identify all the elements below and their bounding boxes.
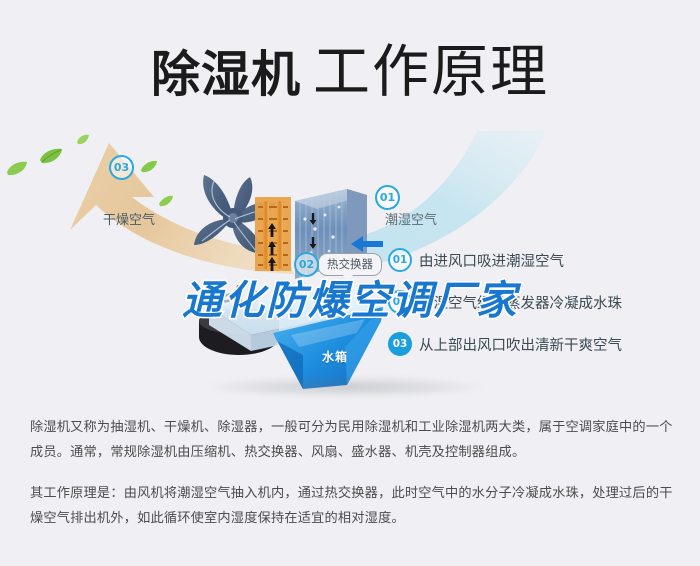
watermark-text: 通化防爆空调厂家	[182, 279, 518, 323]
paragraph-1: 除湿机又称为抽湿机、干燥机、除湿器，一般可分为民用除湿机和工业除湿机两大类，属于…	[30, 414, 675, 464]
legend-text-03: 从上部出风口吹出清新干爽空气	[419, 334, 622, 355]
legend-badge-03: 03	[388, 332, 412, 356]
leaf-icon-5	[158, 195, 174, 213]
leaf-icon-3	[76, 133, 90, 151]
leaf-icon-4	[140, 160, 158, 179]
humid-air-label: 潮湿空气	[385, 209, 437, 228]
ground-shadow	[205, 377, 485, 397]
infographic-page: 除湿机工作原理	[0, 0, 700, 566]
illustration-badge-03: 03	[109, 155, 134, 180]
page-title-part2: 工作原理	[313, 40, 549, 104]
page-title-part1: 除湿机	[151, 48, 301, 102]
body-copy: 除湿机又称为抽湿机、干燥机、除湿器，一般可分为民用除湿机和工业除湿机两大类，属于…	[30, 414, 675, 546]
paragraph-2: 其工作原理是：由风机将潮湿空气抽入机内，通过热交换器，此时空气中的水分子冷凝成水…	[30, 480, 675, 530]
dry-air-label: 干燥空气	[103, 209, 155, 228]
page-title: 除湿机工作原理	[0, 26, 700, 108]
watermark: 通化防爆空调厂家	[0, 268, 700, 326]
water-tank-label: 水箱	[322, 348, 348, 365]
legend-item-03: 03 从上部出风口吹出清新干爽空气	[388, 332, 688, 356]
leaf-icon-1	[38, 147, 64, 170]
illustration-badge-01: 01	[375, 185, 400, 210]
leaf-icon-2	[6, 161, 28, 182]
